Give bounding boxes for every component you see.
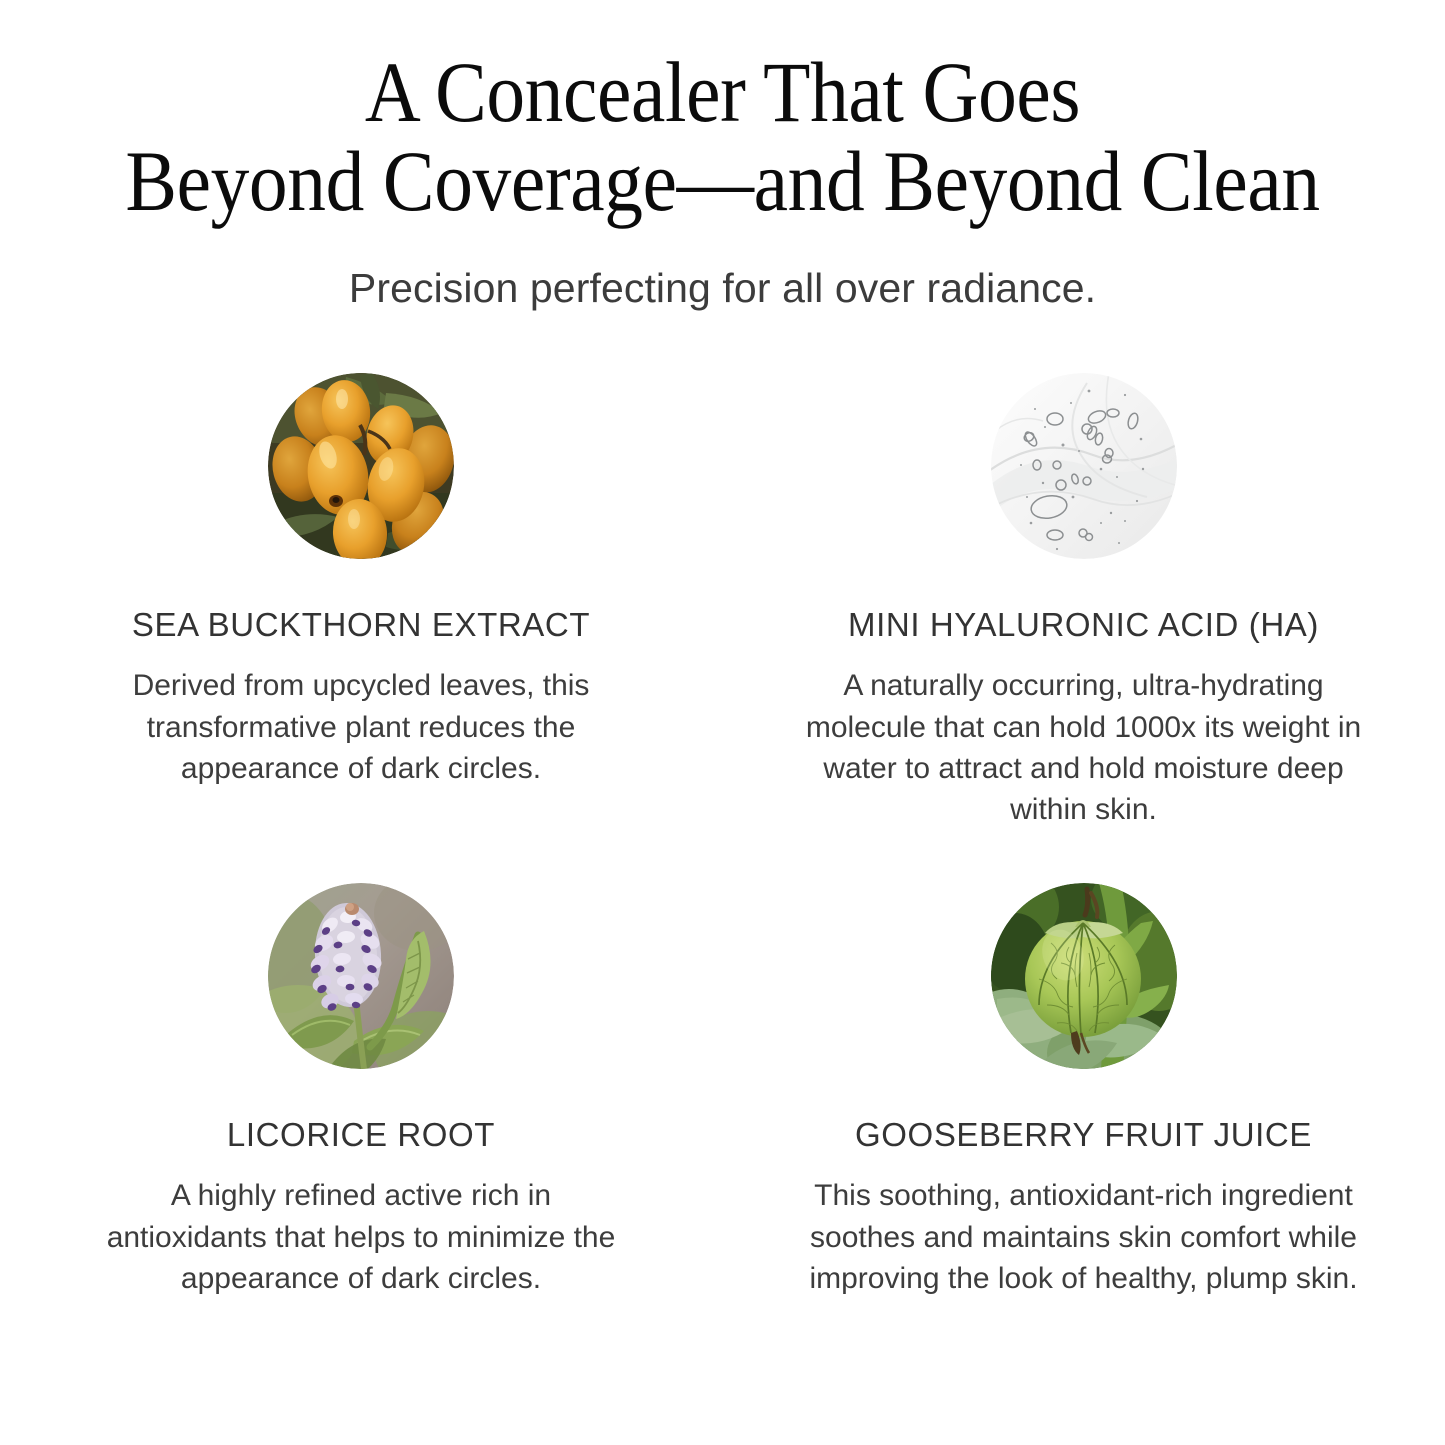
- ingredient-description: A naturally occurring, ultra-hydrating m…: [799, 643, 1369, 831]
- ingredient-title: MINI HYALURONIC ACID (HA): [848, 559, 1319, 643]
- page-title: A Concealer That Goes Beyond Coverage—an…: [72, 48, 1373, 225]
- hyaluronic-acid-gel-texture-photo: [991, 373, 1177, 559]
- headline-line-2: Beyond Coverage—and Beyond Clean: [72, 137, 1373, 226]
- ingredient-grid: SEA BUCKTHORN EXTRACT Derived from upcyc…: [0, 373, 1445, 1393]
- ingredient-description: Derived from upcycled leaves, this trans…: [91, 643, 631, 789]
- page-subtitle: Precision perfecting for all over radian…: [0, 225, 1445, 314]
- gooseberry-fruit-photo: [991, 883, 1177, 1069]
- licorice-root-flower-photo: [268, 883, 454, 1069]
- ingredient-card-gooseberry: GOOSEBERRY FRUIT JUICE This soothing, an…: [722, 883, 1445, 1393]
- sea-buckthorn-berries-photo: [268, 373, 454, 559]
- header: A Concealer That Goes Beyond Coverage—an…: [0, 48, 1445, 314]
- ingredient-description: A highly refined active rich in antioxid…: [91, 1153, 631, 1299]
- ingredient-card-sea-buckthorn: SEA BUCKTHORN EXTRACT Derived from upcyc…: [0, 373, 722, 883]
- ingredient-card-licorice-root: LICORICE ROOT A highly refined active ri…: [0, 883, 722, 1393]
- headline-line-1: A Concealer That Goes: [72, 48, 1373, 137]
- ingredient-card-hyaluronic-acid: MINI HYALURONIC ACID (HA) A naturally oc…: [722, 373, 1445, 883]
- ingredient-description: This soothing, antioxidant-rich ingredie…: [799, 1153, 1369, 1299]
- ingredient-title: LICORICE ROOT: [227, 1069, 495, 1153]
- ingredient-title: GOOSEBERRY FRUIT JUICE: [855, 1069, 1312, 1153]
- ingredient-title: SEA BUCKTHORN EXTRACT: [132, 559, 590, 643]
- ingredient-infographic-page: A Concealer That Goes Beyond Coverage—an…: [0, 0, 1445, 1445]
